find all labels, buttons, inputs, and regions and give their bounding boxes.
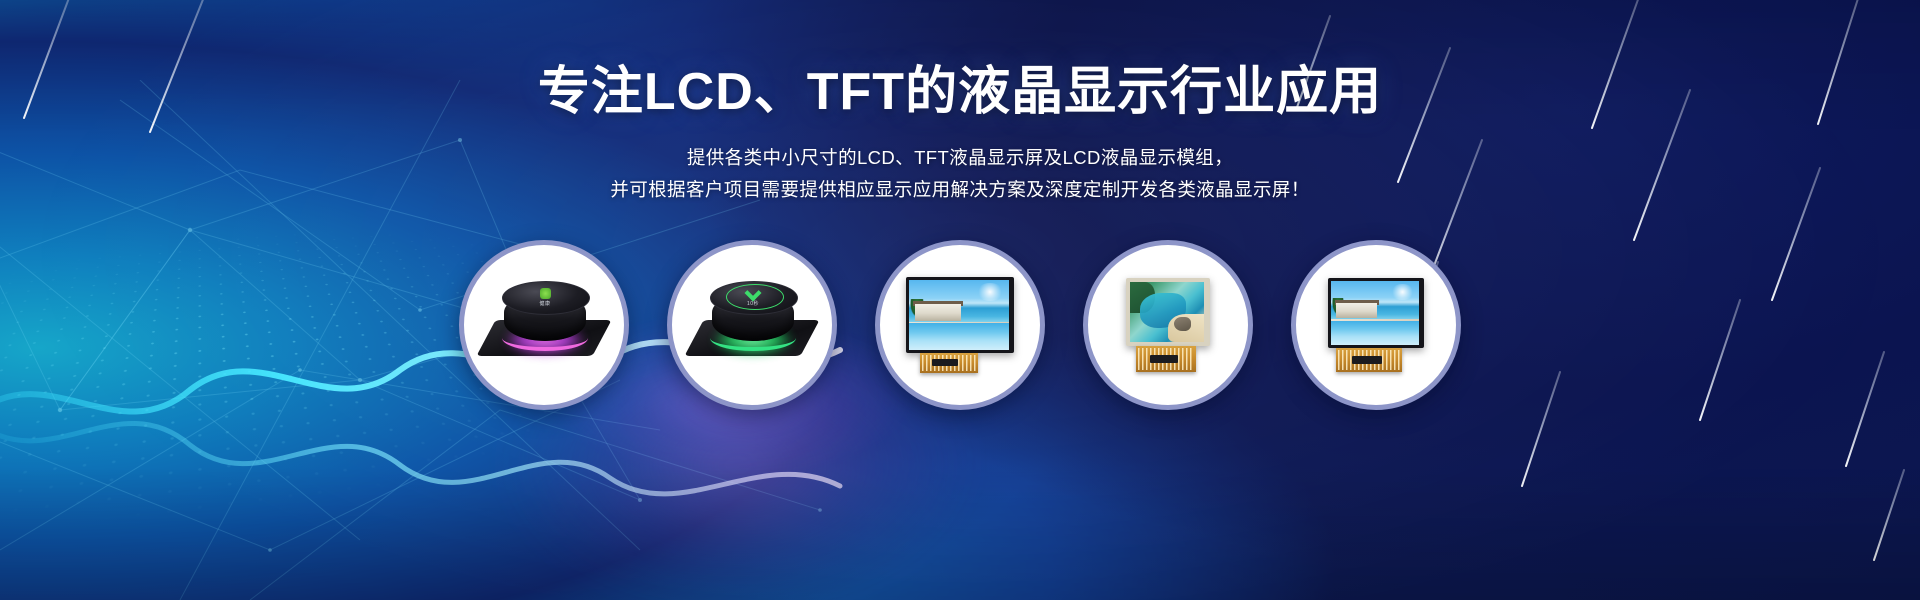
lcd-panel-icon [880, 245, 1040, 405]
round-device-icon: 10秒 [672, 245, 832, 405]
product-circle-tft-coast[interactable] [1083, 240, 1253, 410]
lcd-panel-icon [1296, 245, 1456, 405]
product-circle-tft-beach[interactable] [1291, 240, 1461, 410]
subtitle-line-2: 并可根据客户项目需要提供相应显示应用解决方案及深度定制开发各类液晶显示屏！ [0, 174, 1920, 206]
product-showcase-list: 健康 10秒 [0, 240, 1920, 410]
device-screen-label: 健康 [539, 300, 550, 307]
hero-subtitle-block: 提供各类中小尺寸的LCD、TFT液晶显示屏及LCD液晶显示模组， 并可根据客户项… [0, 142, 1920, 206]
product-circle-round-device-green[interactable]: 10秒 [667, 240, 837, 410]
lcd-panel-icon [1088, 245, 1248, 405]
hero-banner: 专注LCD、TFT的液晶显示行业应用 提供各类中小尺寸的LCD、TFT液晶显示屏… [0, 0, 1920, 600]
page-title: 专注LCD、TFT的液晶显示行业应用 [0, 62, 1920, 122]
round-device-icon: 健康 [464, 245, 624, 405]
product-circle-round-device-purple[interactable]: 健康 [459, 240, 629, 410]
product-circle-tft-pool[interactable] [875, 240, 1045, 410]
hero-copy: 专注LCD、TFT的液晶显示行业应用 提供各类中小尺寸的LCD、TFT液晶显示屏… [0, 62, 1920, 206]
subtitle-line-1: 提供各类中小尺寸的LCD、TFT液晶显示屏及LCD液晶显示模组， [0, 142, 1920, 174]
